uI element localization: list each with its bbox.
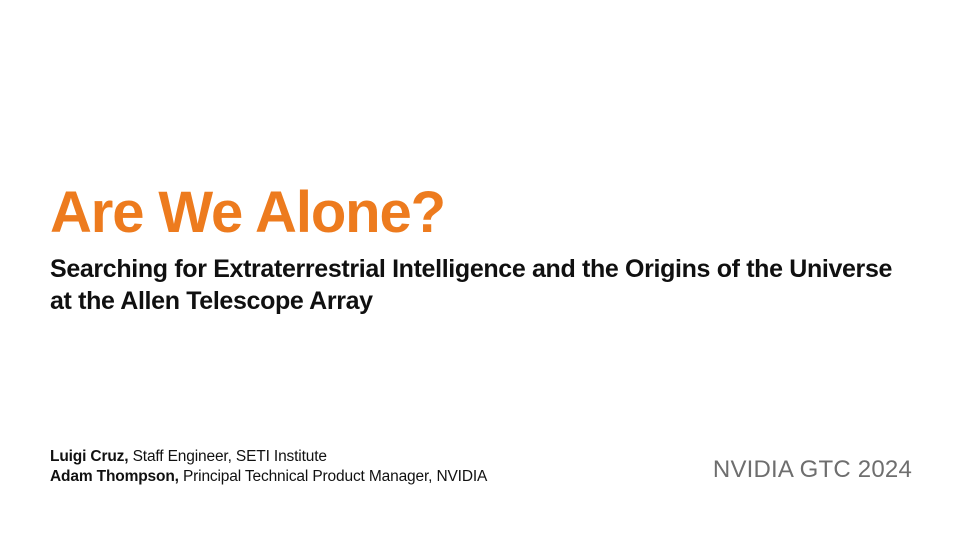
page-title: Are We Alone?: [50, 183, 910, 243]
page-subtitle: Searching for Extraterrestrial Intellige…: [50, 243, 895, 317]
presenter-name: Luigi Cruz,: [50, 448, 128, 465]
presenter-role: Staff Engineer, SETI Institute: [128, 448, 326, 465]
title-block: Are We Alone? Searching for Extraterrest…: [50, 183, 910, 317]
event-brand-label: NVIDIA GTC 2024: [713, 455, 912, 485]
presenter-name: Adam Thompson,: [50, 468, 179, 485]
presenter-entry: Luigi Cruz, Staff Engineer, SETI Institu…: [50, 447, 670, 467]
presenter-entry: Adam Thompson, Principal Technical Produ…: [50, 467, 670, 487]
presenter-list: Luigi Cruz, Staff Engineer, SETI Institu…: [50, 447, 670, 487]
presentation-title-slide: Are We Alone? Searching for Extraterrest…: [0, 0, 960, 540]
presenter-role: Principal Technical Product Manager, NVI…: [179, 468, 487, 485]
